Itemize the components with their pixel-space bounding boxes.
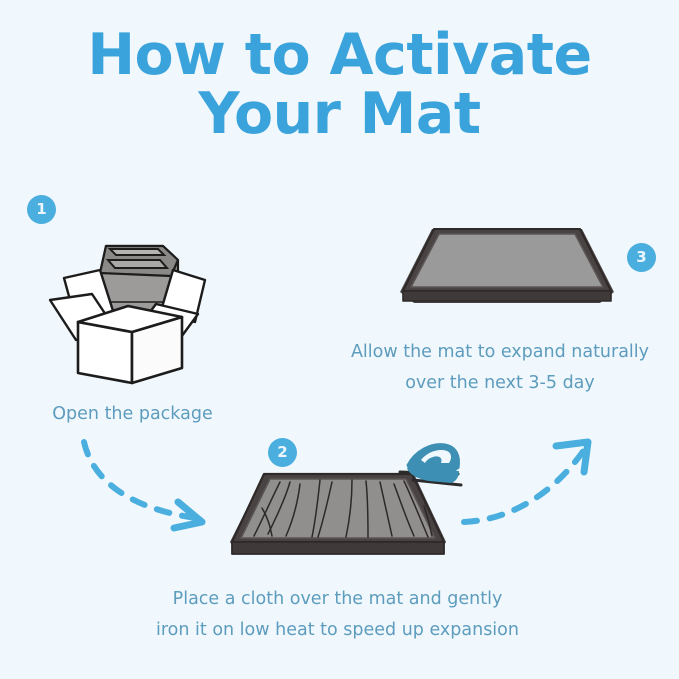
step-2-caption-line-2: iron it on low heat to speed up expansio… xyxy=(156,620,519,640)
expanded-mat-illustration xyxy=(400,215,615,315)
title-line-1: How to Activate xyxy=(0,26,679,85)
step-3-badge: 3 xyxy=(627,243,656,272)
step-1-caption: Open the package xyxy=(0,399,265,430)
step-2-caption-line-1: Place a cloth over the mat and gently xyxy=(173,589,503,609)
step-2-caption: Place a cloth over the mat and gently ir… xyxy=(105,584,570,645)
infographic-canvas: How to Activate Your Mat 1 xyxy=(0,0,679,679)
dashed-arrow-down-right-icon xyxy=(78,438,218,538)
box-body-shape xyxy=(78,306,182,383)
dashed-arrow-up-right-icon xyxy=(460,440,600,540)
title-line-2: Your Mat xyxy=(0,85,679,144)
iron-icon xyxy=(395,438,467,496)
step-3-caption-line-2: over the next 3-5 day xyxy=(405,373,595,393)
step-3-caption: Allow the mat to expand naturally over t… xyxy=(300,337,679,398)
page-title: How to Activate Your Mat xyxy=(0,26,679,143)
step-3-caption-line-1: Allow the mat to expand naturally xyxy=(351,342,649,362)
open-box-illustration xyxy=(40,218,225,383)
